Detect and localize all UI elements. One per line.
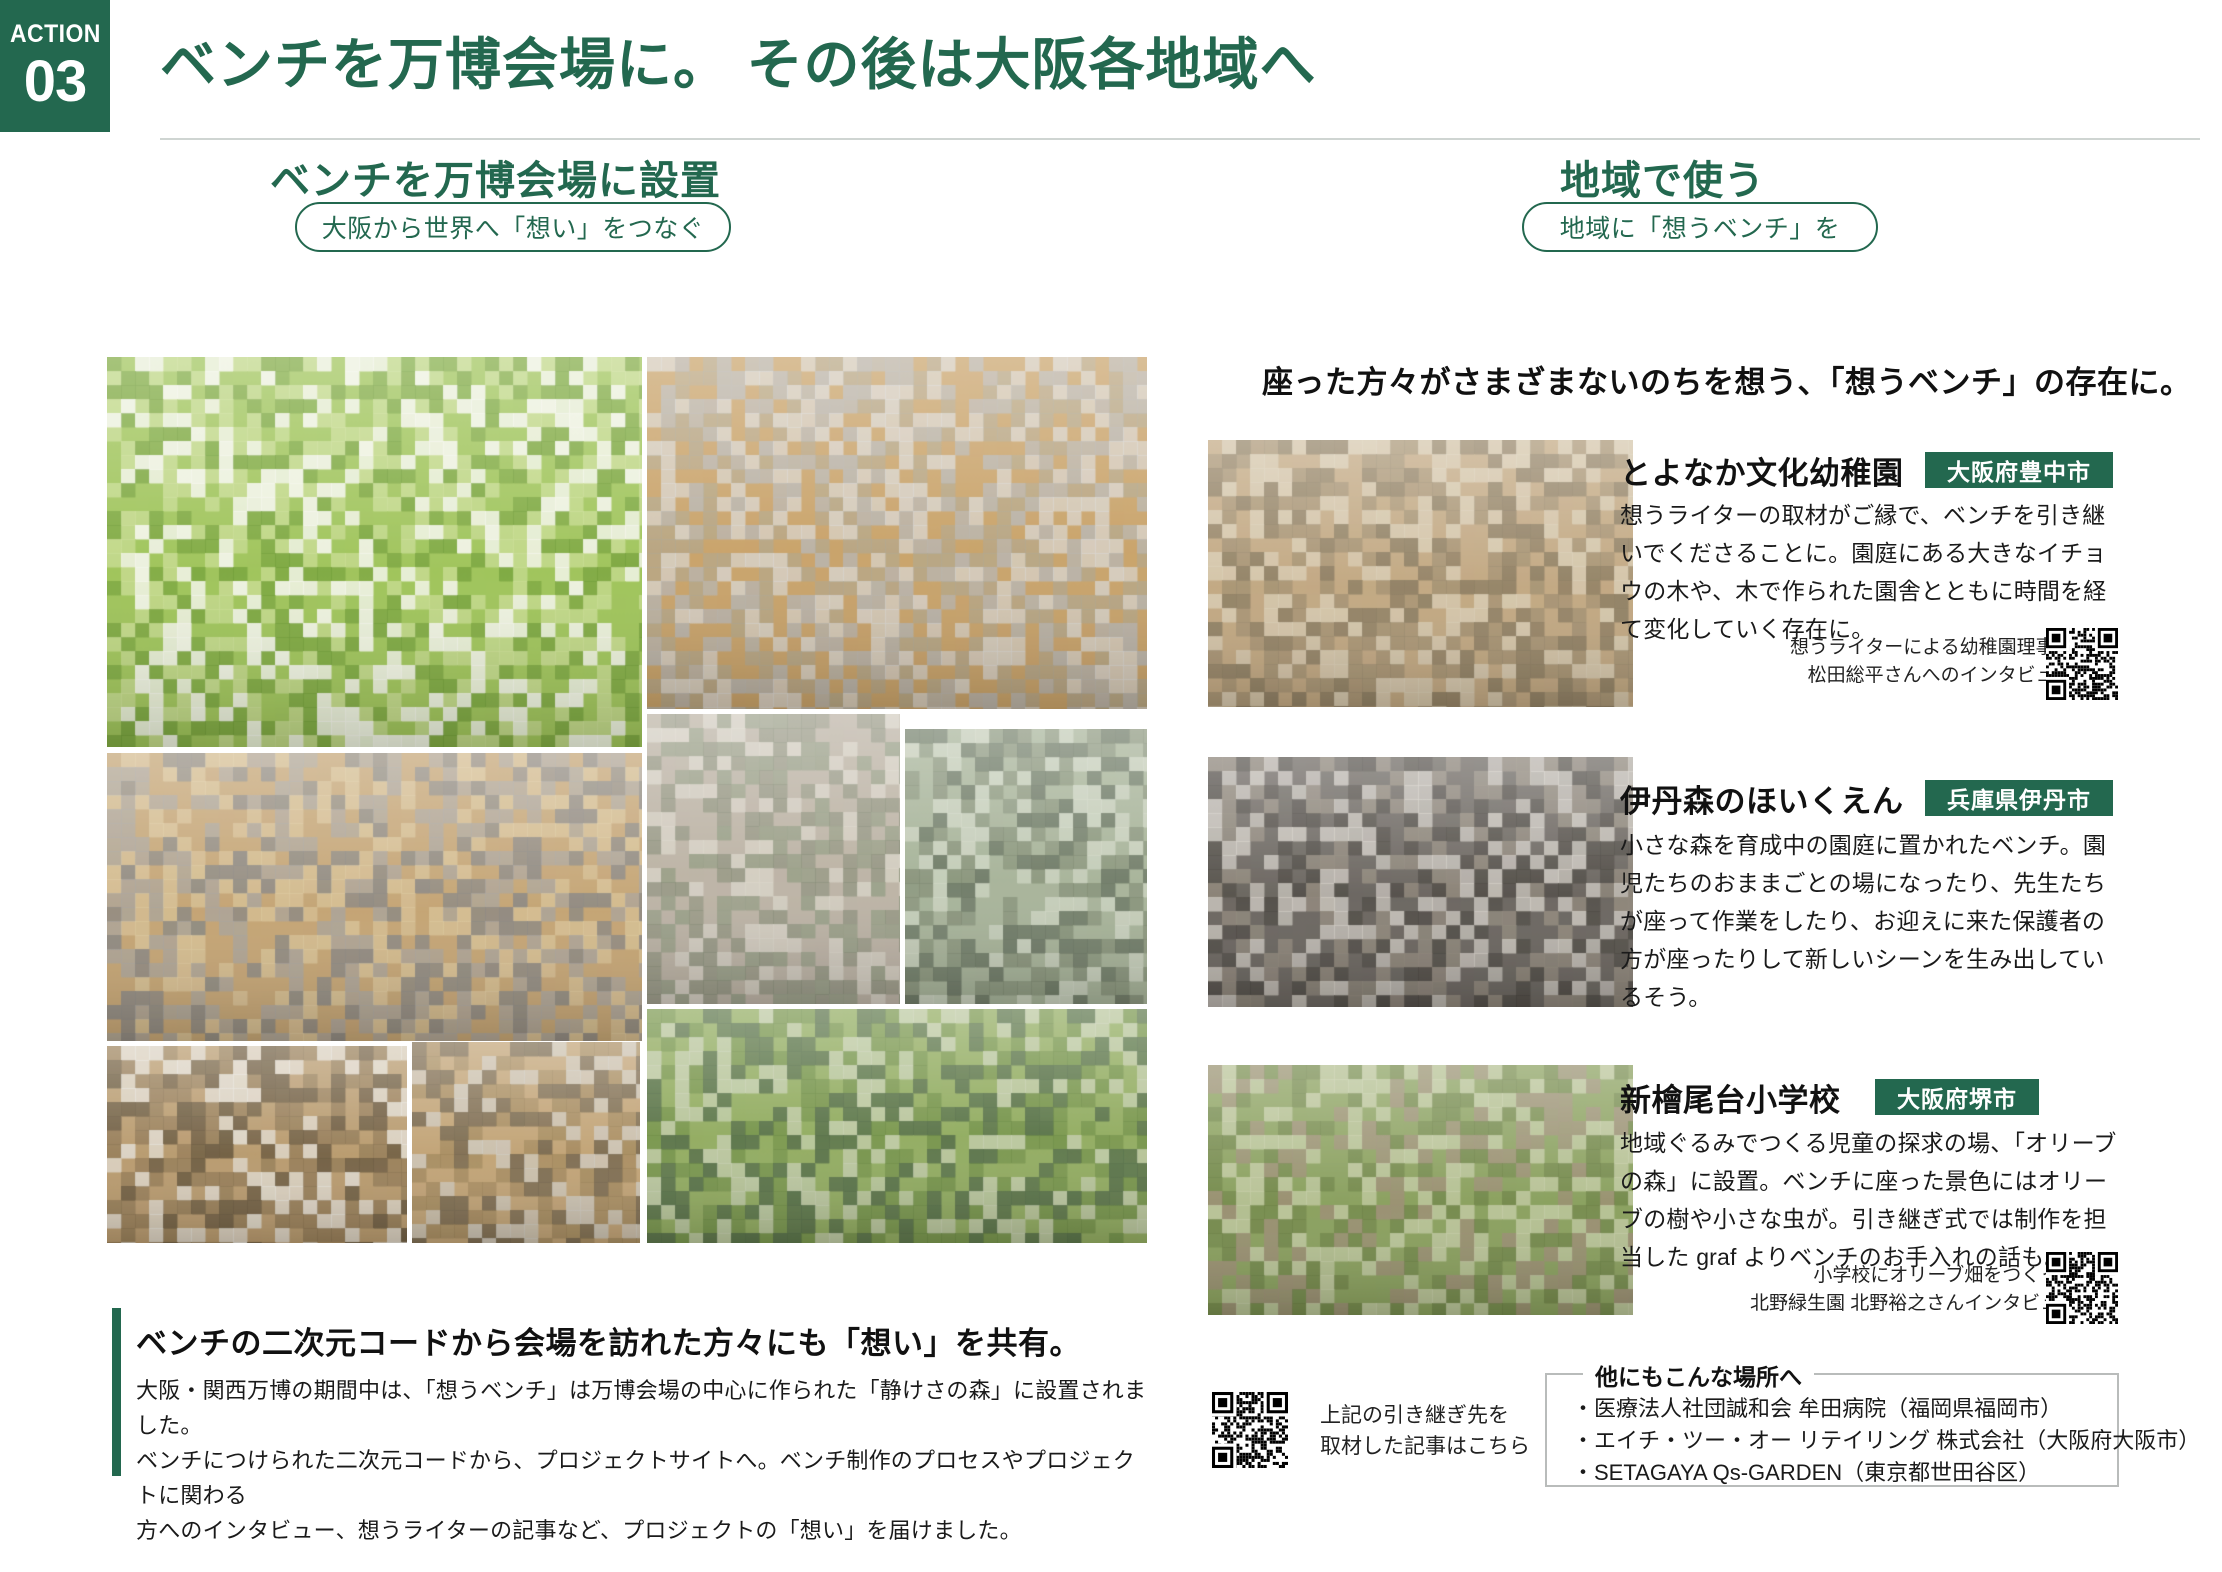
qr-caption-article: 上記の引き継ぎ先を 取材した記事はこちら bbox=[1320, 1400, 1530, 1462]
card-photo-shinhinoodai bbox=[1208, 1065, 1633, 1315]
bottom-block-body: 大阪・関西万博の期間中は、「想うベンチ」は万博会場の中心に作られた「静けさの森」… bbox=[136, 1373, 1148, 1548]
card-tag-shinhinoodai: 大阪府堺市 bbox=[1875, 1079, 2039, 1115]
qr-caption-line: 松田総平さんへのインタビュー bbox=[1790, 662, 2074, 690]
card-photo-itami bbox=[1208, 757, 1633, 1007]
list-item: ・エイチ・ツー・オー リテイリング 株式会社（大阪府大阪市） bbox=[1572, 1425, 2200, 1457]
card-tag-toyonaka: 大阪府豊中市 bbox=[1925, 452, 2113, 488]
card-title-shinhinoodai: 新檜尾台小学校 bbox=[1620, 1075, 1841, 1120]
qr-code-article[interactable] bbox=[1212, 1392, 1288, 1468]
photo-qr-plate-on-bench bbox=[107, 1046, 407, 1243]
right-section-pill: 地域に「想うベンチ」を bbox=[1522, 202, 1878, 252]
page-title: ベンチを万博会場に。 その後は大阪各地域へ bbox=[160, 20, 1317, 101]
left-section-pill: 大阪から世界へ「想い」をつなぐ bbox=[295, 202, 731, 252]
card-title-itami: 伊丹森のほいくえん bbox=[1620, 776, 1904, 821]
list-item: ・医療法人社団誠和会 牟田病院（福岡県福岡市） bbox=[1572, 1393, 2200, 1425]
left-section-title: ベンチを万博会場に設置 bbox=[270, 148, 721, 206]
action-label: ACTION bbox=[10, 22, 101, 47]
right-section-title: 地域で使う bbox=[1560, 148, 1765, 206]
card-body-itami: 小さな森を育成中の園庭に置かれたベンチ。園児たちのおままごとの場になったり、先生… bbox=[1620, 826, 2125, 1016]
photo-person-sitting-block-stool bbox=[412, 1042, 640, 1243]
photo-quiet-forest-crowd bbox=[647, 1009, 1147, 1243]
photo-stacked-timber-bench bbox=[647, 357, 1147, 709]
photo-bench-top-closeup bbox=[107, 753, 642, 1041]
qr-caption-line: 想うライターによる幼稚園理事長 bbox=[1790, 634, 2074, 662]
bottom-block-line: ベンチにつけられた二次元コードから、プロジェクトサイトへ。ベンチ制作のプロセスや… bbox=[136, 1443, 1148, 1513]
header-divider bbox=[160, 138, 2200, 140]
qr-code-shinhinoodai[interactable] bbox=[2046, 1252, 2118, 1324]
photo-people-sitting-bench-row bbox=[647, 714, 900, 1004]
expo-photo-collage bbox=[107, 357, 1147, 1243]
qr-caption-line: 取材した記事はこちら bbox=[1320, 1431, 1530, 1462]
card-title-toyonaka: とよなか文化幼稚園 bbox=[1620, 448, 1904, 493]
green-accent-bar bbox=[112, 1308, 121, 1476]
qr-caption-line: 小学校にオリーブ畑をつくった bbox=[1750, 1262, 2078, 1290]
bottom-block-line: 大阪・関西万博の期間中は、「想うベンチ」は万博会場の中心に作られた「静けさの森」… bbox=[136, 1373, 1148, 1443]
page-root: ACTION 03 ベンチを万博会場に。 その後は大阪各地域へ ベンチを万博会場… bbox=[0, 0, 2222, 1572]
bottom-block-line: 方へのインタビュー、想うライターの記事など、プロジェクトの「想い」を届けました。 bbox=[136, 1513, 1148, 1548]
action-badge: ACTION 03 bbox=[0, 0, 110, 132]
bottom-block-title: ベンチの二次元コードから会場を訪れた方々にも「想い」を共有。 bbox=[136, 1318, 1081, 1363]
photo-woman-backpack-bench bbox=[905, 729, 1147, 1004]
right-lead-text: 座った方々がさまざまないのちを想う、「想うベンチ」の存在に。 bbox=[1262, 357, 2192, 402]
card-tag-itami: 兵庫県伊丹市 bbox=[1925, 780, 2113, 816]
qr-caption-line: 上記の引き継ぎ先を bbox=[1320, 1400, 1530, 1431]
other-places-legend: 他にもこんな場所へ bbox=[1583, 1358, 1814, 1392]
photo-expo-forest-benches-people bbox=[107, 357, 642, 747]
qr-caption-line: 北野緑生園 北野裕之さんインタビュー bbox=[1750, 1290, 2078, 1318]
list-item: ・SETAGAYA Qs-GARDEN（東京都世田谷区） bbox=[1572, 1457, 2200, 1489]
qr-caption-shinhinoodai: 小学校にオリーブ畑をつくった 北野緑生園 北野裕之さんインタビュー bbox=[1750, 1262, 2078, 1318]
card-body-toyonaka: 想うライターの取材がご縁で、ベンチを引き継いでくださることに。園庭にある大きなイ… bbox=[1620, 496, 2125, 648]
card-photo-toyonaka bbox=[1208, 440, 1633, 707]
qr-caption-toyonaka: 想うライターによる幼稚園理事長 松田総平さんへのインタビュー bbox=[1790, 634, 2074, 690]
action-number: 03 bbox=[24, 53, 87, 111]
qr-code-toyonaka[interactable] bbox=[2046, 628, 2118, 700]
other-places-list: ・医療法人社団誠和会 牟田病院（福岡県福岡市） ・エイチ・ツー・オー リテイリン… bbox=[1572, 1393, 2200, 1489]
